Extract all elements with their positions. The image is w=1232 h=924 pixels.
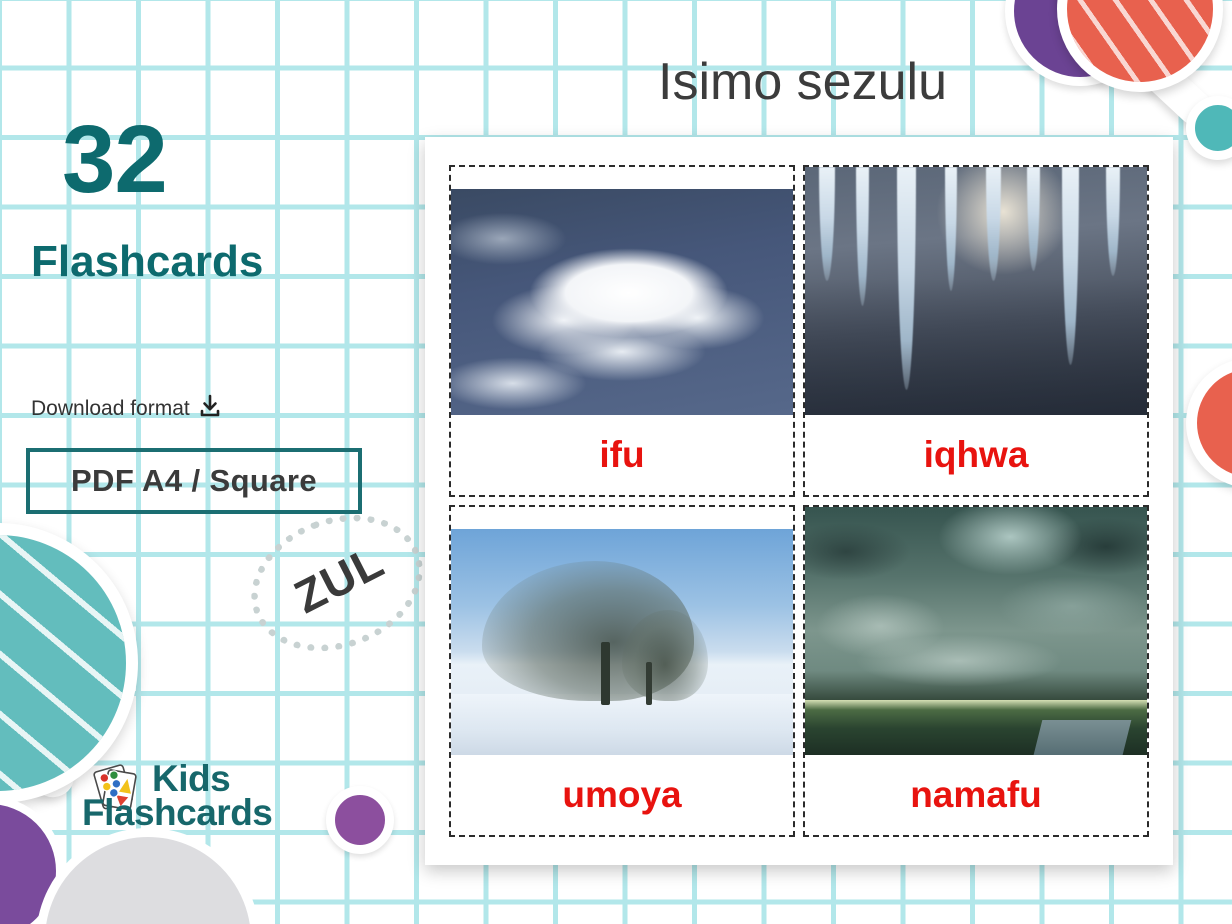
windswept-tree-photo bbox=[451, 529, 793, 755]
flashcard-item[interactable]: iqhwa bbox=[803, 165, 1149, 497]
flashcard-word: iqhwa bbox=[805, 415, 1147, 495]
flashcard-panel: ifu iqhwa bbox=[425, 137, 1173, 865]
river bbox=[1033, 720, 1131, 755]
flashcard-word: umoya bbox=[451, 755, 793, 835]
format-select-button[interactable]: PDF A4 / Square bbox=[26, 448, 362, 514]
download-format-label: Download format bbox=[31, 397, 190, 421]
flashcard-grid: ifu iqhwa bbox=[449, 165, 1149, 837]
icicles-photo bbox=[805, 167, 1147, 415]
brand-line-kids: Kids bbox=[152, 762, 272, 796]
flashcards-preview-page: 32 Flashcards Download format PDF A4 / S… bbox=[0, 0, 1232, 924]
flashcard-count-label: Flashcards bbox=[31, 240, 263, 284]
snow-ground bbox=[451, 694, 793, 755]
brand-line-flashcards: Flashcards bbox=[82, 796, 272, 830]
brand-text: Kids Flashcards bbox=[152, 762, 272, 831]
storm-clouds-photo bbox=[805, 507, 1147, 755]
flashcard-word: ifu bbox=[451, 415, 793, 495]
language-stamp: ZUL bbox=[249, 518, 425, 648]
flashcard-item[interactable]: namafu bbox=[803, 505, 1149, 837]
flashcard-item[interactable]: umoya bbox=[449, 505, 795, 837]
download-format-row: Download format bbox=[31, 394, 221, 423]
flashcard-count: 32 bbox=[62, 112, 167, 208]
format-select-label: PDF A4 / Square bbox=[71, 463, 317, 499]
cumulus-cloud-photo bbox=[451, 189, 793, 415]
brand-logo[interactable]: Kids Flashcards bbox=[86, 762, 272, 831]
flashcard-word: namafu bbox=[805, 755, 1147, 835]
flashcard-item[interactable]: ifu bbox=[449, 165, 795, 497]
download-icon[interactable] bbox=[199, 394, 221, 423]
sidebar: 32 Flashcards Download format PDF A4 / S… bbox=[0, 0, 430, 924]
tree-trunk-small bbox=[646, 662, 652, 705]
tree-trunk bbox=[601, 642, 610, 705]
page-title: Isimo sezulu bbox=[430, 52, 1175, 112]
